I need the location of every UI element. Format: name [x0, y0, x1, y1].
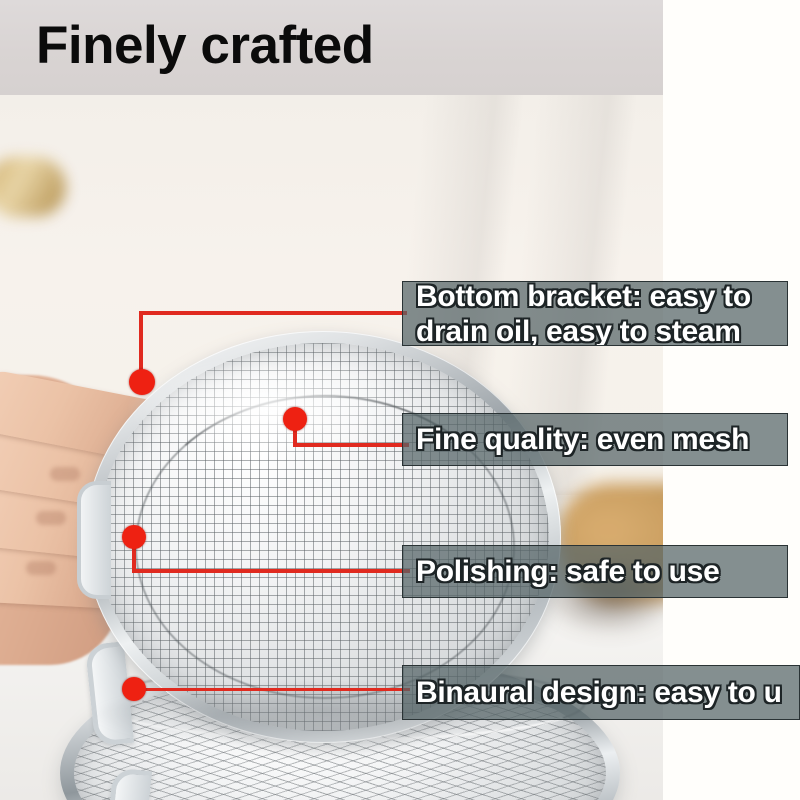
callout-label-fine-quality: Fine quality: even mesh — [416, 422, 749, 457]
knuckle-crease — [50, 467, 80, 481]
callout-banner-bottom-bracket: Bottom bracket: easy to drain oil, easy … — [402, 281, 788, 346]
title-band: Finely crafted — [0, 0, 663, 95]
infographic-canvas: Finely crafted Bottom bracket: easy to d… — [0, 0, 800, 800]
callout-banner-binaural-design: Binaural design: easy to u — [402, 665, 800, 720]
callout-dot-3[interactable] — [122, 525, 146, 549]
callout-banner-fine-quality: Fine quality: even mesh — [402, 413, 788, 466]
leader-line-horizontal-4 — [132, 688, 410, 691]
leader-line-horizontal-2 — [293, 443, 409, 447]
sieve-side-clip — [77, 481, 111, 599]
callout-dot-4[interactable] — [122, 677, 146, 701]
page-title: Finely crafted — [36, 14, 374, 78]
leader-line-horizontal-1 — [139, 311, 407, 315]
knuckle-crease — [36, 511, 66, 525]
callout-dot-2[interactable] — [283, 407, 307, 431]
callout-label-binaural-design: Binaural design: easy to u — [416, 675, 782, 710]
callout-dot-1[interactable] — [129, 369, 155, 395]
knuckle-crease — [26, 561, 56, 575]
callout-label-polishing: Polishing: safe to use — [416, 554, 719, 589]
leader-line-vertical-1 — [139, 313, 143, 377]
callout-banner-polishing: Polishing: safe to use — [402, 545, 788, 598]
leader-line-horizontal-3 — [132, 569, 410, 573]
callout-label-bottom-bracket: Bottom bracket: easy to drain oil, easy … — [416, 281, 751, 346]
